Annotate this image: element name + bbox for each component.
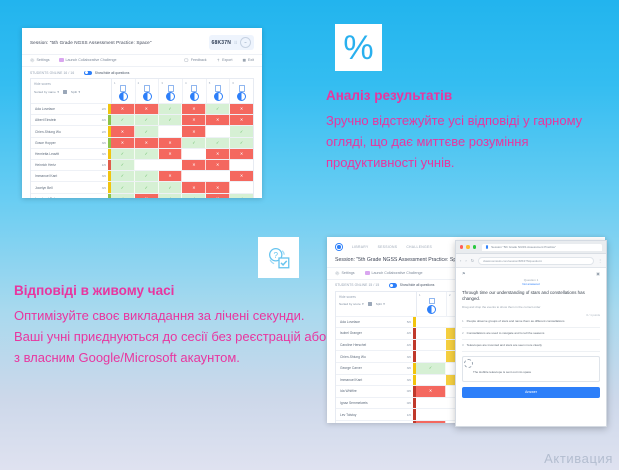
correct-icon: ✓ [168, 197, 171, 198]
question-number: 6 [232, 81, 234, 85]
question-text: Through time our understanding of stars … [462, 290, 600, 302]
answer-cell[interactable]: ✕ [135, 138, 159, 148]
correct-icon: ✓ [429, 366, 432, 370]
hide-scores-label[interactable]: Hide scores [339, 295, 413, 299]
answer-cell[interactable]: ✓ [159, 182, 183, 192]
answer-cell[interactable]: ✓ [230, 126, 253, 136]
challenge-icon [59, 58, 64, 62]
answer-cell[interactable]: ✕ [230, 171, 253, 181]
svg-text:?: ? [273, 251, 278, 260]
drag-option-text: The Hubble telescope is sent out into sp… [473, 370, 531, 374]
answer-cell[interactable]: ✕ [230, 104, 253, 114]
student-score: 3/6 [95, 149, 108, 159]
question-number: 5 [209, 81, 211, 85]
toggle-knob [389, 283, 397, 288]
browser-titlebar: Session "5th Grade NGSS Assessment Pract… [456, 241, 606, 254]
results-overview-screenshot: Session: "5th Grade NGSS Assessment Prac… [22, 28, 262, 198]
toolbar-settings-label: Settings [342, 271, 355, 275]
correct-icon: ✓ [240, 130, 243, 134]
session-toolbar: Settings Launch Collaborative Challenge … [22, 54, 262, 67]
question-doc-icon [239, 85, 245, 92]
answer-cell[interactable]: ✓ [159, 194, 183, 198]
question-content: ⚑ ▣ Question 1 Not answered Through time… [456, 268, 606, 402]
question-number: 4 [185, 81, 187, 85]
option-number: 1 [462, 320, 464, 324]
student-question-browser-window: Session "5th Grade NGSS Assessment Pract… [455, 240, 607, 427]
student-name: Ignaz Semmelweis [336, 398, 400, 409]
answer-cell[interactable]: ✕ [206, 115, 230, 125]
question-progress-icon [237, 92, 246, 101]
show-hide-questions-label: Show/hide all questions [95, 71, 130, 75]
correct-icon: ✓ [145, 174, 148, 178]
correct-icon: ✓ [168, 118, 171, 122]
maximize-icon[interactable] [473, 245, 476, 248]
answer-cell[interactable] [416, 375, 446, 386]
question-doc-icon [191, 85, 197, 92]
incorrect-icon: ✕ [145, 141, 148, 145]
chevron-down-icon: ▾ [78, 90, 80, 94]
answer-cell[interactable]: ✕ [230, 115, 253, 125]
answer-cell[interactable]: ✕ [159, 138, 183, 148]
toolbar-exit-label: Exit [248, 58, 254, 62]
incorrect-icon: ✕ [121, 141, 124, 145]
nav-sessions[interactable]: SESSIONS [378, 245, 398, 249]
student-score: 1/6 [95, 160, 108, 170]
question-number: 1 [419, 293, 421, 297]
table-row[interactable]: Henrietta Leavitt3/6✓✓✕✕✕ [31, 148, 253, 159]
answer-cell[interactable]: ✓ [135, 115, 159, 125]
incorrect-icon: ✕ [121, 107, 124, 111]
answer-cell[interactable] [182, 149, 206, 159]
chevron-down-icon: ▾ [57, 90, 59, 94]
feature-analysis: Аналіз результатів Зручно відстежуйте ус… [326, 88, 606, 173]
browser-tab[interactable]: Session "5th Grade NGSS Assessment Pract… [482, 244, 602, 251]
gear-icon [335, 271, 340, 276]
answer-cell[interactable]: ✕ [135, 194, 159, 198]
answer-cell[interactable]: ✕ [206, 149, 230, 159]
question-column[interactable]: 4 [183, 79, 207, 103]
correct-icon: ✓ [216, 141, 219, 145]
answer-cell[interactable] [416, 409, 446, 420]
answer-cell[interactable]: ✕ [206, 160, 230, 170]
grid-view-icon[interactable] [368, 302, 372, 306]
answer-cell[interactable]: ✓ [135, 126, 159, 136]
incorrect-icon: ✕ [192, 107, 195, 111]
answer-cell[interactable] [416, 328, 446, 339]
results-grid: Hide scores Sorted by name▾ Split▾ 12345… [30, 78, 254, 198]
question-column[interactable]: 2 [136, 79, 160, 103]
student-score: 0/6 [400, 386, 413, 397]
option-text: Constellations are used to navigate and … [467, 332, 545, 336]
answer-cell[interactable] [206, 171, 230, 181]
question-progress-icon [214, 92, 223, 101]
answer-cell[interactable]: ✓ [206, 138, 230, 148]
feature-analysis-heading: Аналіз результатів [326, 88, 606, 105]
sort-chip-label: Sorted by score [339, 302, 361, 306]
student-score: 3/6 [400, 363, 413, 374]
student-name: Ada Lovelace [336, 317, 400, 328]
answer-cell[interactable]: ✓ [135, 171, 159, 181]
student-score: 4/6 [95, 194, 108, 198]
correct-icon: ✓ [192, 141, 195, 145]
student-score: 2/6 [400, 421, 413, 423]
toolbar-export[interactable]: Export [216, 58, 233, 63]
session-code-pill[interactable]: 68K37N ⠿ ⎯ [209, 35, 254, 50]
answer-cell[interactable]: ✓ [111, 160, 135, 170]
incorrect-icon: ✕ [240, 152, 243, 156]
results-grid-body: Ada Lovelace2/6✕✕✓✕✓✕Albert Einstein4/6✓… [31, 103, 253, 198]
correct-icon: ✓ [121, 197, 124, 198]
correct-icon: ✓ [168, 107, 171, 111]
table-row[interactable]: Ada Lovelace2/6✕✕✓✕✓✕ [31, 103, 253, 114]
question-status: Not answered [462, 282, 600, 286]
answer-cell[interactable]: ✓ [159, 104, 183, 114]
correct-icon: ✓ [121, 163, 124, 167]
answer-cell[interactable]: ✕ [135, 104, 159, 114]
answer-cell[interactable]: ✓ [230, 194, 253, 198]
correct-icon: ✓ [168, 186, 171, 190]
question-check-icon-tile: ? [258, 237, 299, 278]
answer-cell[interactable]: ✕ [230, 149, 253, 159]
results-grid-header: Hide scores Sorted by name▾ Split▾ 12345… [31, 79, 253, 103]
show-hide-questions-label: Show/hide all questions [400, 283, 435, 287]
question-option[interactable]: 3Telescopes are invented and stars are s… [462, 344, 600, 352]
question-progress-icon [190, 92, 199, 101]
answer-cell[interactable]: ✓ [111, 115, 135, 125]
answer-cell[interactable]: ✕ [111, 138, 135, 148]
option-number: 2 [462, 332, 464, 336]
correct-icon: ✓ [121, 186, 124, 190]
toolbar-launch-challenge-label: Launch Collaborative Challenge [66, 58, 117, 62]
students-online-count: STUDENTS ONLINE 16 / 16 [30, 71, 74, 75]
answer-cell[interactable] [230, 160, 253, 170]
correct-icon: ✓ [145, 130, 148, 134]
table-row[interactable]: Immanuel Kant3/6✓✓✕✕ [31, 170, 253, 181]
answer-cell[interactable]: ✕ [182, 182, 206, 192]
student-name: Isobel Granger [336, 328, 400, 339]
expand-button[interactable]: ⎯ [240, 37, 251, 48]
incorrect-icon: ✕ [240, 107, 243, 111]
table-row[interactable]: Albert Einstein4/6✓✓✓✕✕✕ [31, 114, 253, 125]
sort-chip[interactable]: Sorted by name▾ [34, 90, 59, 94]
student-name: Lev Tolstoy [336, 409, 400, 420]
answer-cell[interactable]: ✕ [182, 115, 206, 125]
correct-icon: ✓ [240, 197, 243, 198]
feature-analysis-body: Зручно відстежуйте усі відповіді у гарно… [326, 110, 606, 173]
url-input[interactable]: classroomtools.com/session/68K37N/questi… [478, 257, 594, 265]
feedback-icon [184, 58, 189, 63]
student-score: 4/6 [400, 328, 413, 339]
student-score: 4/6 [400, 340, 413, 351]
incorrect-icon: ✕ [168, 174, 171, 178]
answer-cell[interactable]: ✕ [111, 104, 135, 114]
question-progress-icon [119, 92, 128, 101]
session-title: Session: "5th Grade NGSS Assessment Prac… [30, 40, 152, 45]
question-number: 3 [161, 81, 163, 85]
student-name: Albert Einstein [31, 115, 95, 125]
incorrect-icon: ✕ [168, 141, 171, 145]
nav-challenges[interactable]: CHALLENGES [406, 245, 432, 249]
student-score: 3/6 [95, 171, 108, 181]
grid-view-icon[interactable] [63, 90, 67, 94]
student-score: 2/6 [95, 104, 108, 114]
student-name: George Carver [336, 363, 400, 374]
view-chip-label: Split [71, 90, 77, 94]
student-name: Louis Pasteur [336, 421, 400, 423]
student-score: 1/6 [400, 409, 413, 420]
student-name: Leonhard Euler [31, 194, 95, 198]
answer-cell[interactable] [230, 182, 253, 192]
chevron-down-icon: ▾ [383, 302, 385, 306]
toolbar-settings[interactable]: Settings [30, 58, 50, 63]
question-option[interactable]: 2Constellations are used to navigate and… [462, 332, 600, 340]
reload-icon[interactable]: ↻ [471, 259, 474, 263]
student-name: Chien-Shiung Wu [31, 126, 95, 136]
student-name: Jocelyn Bell [31, 182, 95, 192]
correct-icon: ✓ [145, 186, 148, 190]
question-column[interactable]: 6 [230, 79, 253, 103]
answer-cell[interactable] [416, 398, 446, 409]
question-columns: 123456 [112, 79, 253, 103]
answer-cell[interactable]: ✓ [111, 182, 135, 192]
percent-icon: % [343, 31, 373, 65]
incorrect-icon: ✕ [216, 186, 219, 190]
answer-cell[interactable]: ✕ [182, 104, 206, 114]
toolbar-launch-challenge[interactable]: Launch Collaborative Challenge [59, 58, 117, 62]
table-row[interactable]: Leonhard Euler4/6✓✕✓✓✕✓ [31, 193, 253, 198]
view-chip[interactable]: Split▾ [376, 302, 385, 306]
view-chip-label: Split [376, 302, 382, 306]
fullscreen-icon[interactable]: ▣ [596, 272, 600, 276]
answer-cell[interactable]: ✓ [182, 194, 206, 198]
answer-cell[interactable]: ✕ [416, 421, 446, 423]
student-name: Henrietta Leavitt [31, 149, 95, 159]
correct-icon: ✓ [192, 197, 195, 198]
correct-icon: ✓ [121, 174, 124, 178]
table-row[interactable]: Heinrich Hertz1/6✓✕✕ [31, 159, 253, 170]
sort-chip-label: Sorted by name [34, 90, 56, 94]
question-number: 2 [449, 293, 451, 297]
student-score: 5/6 [400, 317, 413, 328]
student-name: Caroline Herschel [336, 340, 400, 351]
answer-cell[interactable] [159, 160, 183, 170]
option-number: 3 [462, 344, 464, 348]
answer-cell[interactable]: ✓ [230, 138, 253, 148]
answer-cell[interactable]: ✓ [159, 115, 183, 125]
toolbar-feedback[interactable]: Feedback [184, 58, 206, 63]
table-row[interactable]: Grace Hopper3/6✕✕✕✓✓✓ [31, 137, 253, 148]
answer-cell[interactable]: ✓ [416, 363, 446, 374]
toolbar-feedback-label: Feedback [191, 58, 207, 62]
activation-watermark: Активация [544, 451, 613, 466]
student-name: Grace Hopper [31, 138, 95, 148]
toolbar-exit[interactable]: Exit [242, 58, 255, 63]
correct-icon: ✓ [121, 152, 124, 156]
close-icon[interactable] [460, 245, 463, 248]
option-text: People observe groups of stars and name … [467, 320, 565, 324]
answer-cell[interactable] [206, 126, 230, 136]
question-column[interactable]: 1 [112, 79, 136, 103]
student-score: 3/6 [95, 138, 108, 148]
question-doc-icon [429, 298, 435, 305]
nav-library[interactable]: LIBRARY [352, 245, 369, 249]
answer-cell[interactable] [159, 126, 183, 136]
incorrect-icon: ✕ [192, 186, 195, 190]
show-hide-questions-toggle[interactable]: Show/hide all questions [389, 283, 434, 288]
answer-cell[interactable]: ✕ [416, 386, 446, 397]
session-header: Session: "5th Grade NGSS Assessment Prac… [22, 28, 262, 54]
student-name: Immanuel Kant [31, 171, 95, 181]
toolbar-export-label: Export [222, 58, 232, 62]
favicon-icon [485, 245, 489, 249]
table-row[interactable]: Chien-Shiung Wu2/6✕✓✕✓ [31, 125, 253, 136]
correct-icon: ✓ [121, 118, 124, 122]
question-hint: Drag and drop the events to show them in… [462, 305, 600, 309]
hide-scores-label[interactable]: Hide scores [34, 82, 108, 86]
toolbar-launch-challenge[interactable]: Launch Collaborative Challenge [365, 271, 423, 275]
incorrect-icon: ✕ [240, 174, 243, 178]
browser-tab-title: Session "5th Grade NGSS Assessment Pract… [491, 245, 556, 249]
question-points: 0 / 1 points [462, 313, 600, 317]
question-number: 2 [138, 81, 140, 85]
student-name: Ada Lovelace [31, 104, 95, 114]
feature-live-body: Оптимізуйте своє викладання за лічені се… [14, 305, 330, 368]
show-hide-questions-toggle[interactable]: Show/hide all questions [84, 71, 129, 76]
answer-cell[interactable]: ✓ [135, 182, 159, 192]
sort-chip[interactable]: Sorted by score▾ [339, 302, 364, 306]
student-name: Immanuel Kant [336, 375, 400, 386]
incorrect-icon: ✕ [192, 163, 195, 167]
student-name: Heinrich Hertz [31, 160, 95, 170]
question-doc-icon [144, 85, 150, 92]
view-chip[interactable]: Split▾ [71, 90, 80, 94]
exit-icon [242, 58, 247, 63]
question-progress-icon [166, 92, 175, 101]
incorrect-icon: ✕ [168, 152, 171, 156]
toolbar-launch-challenge-label: Launch Collaborative Challenge [372, 271, 423, 275]
answer-cell[interactable]: ✓ [111, 194, 135, 198]
question-check-icon: ? [266, 245, 292, 271]
browser-addressbar: ‹ › ↻ classroomtools.com/session/68K37N/… [456, 254, 606, 268]
student-name: Chien-Shiung Wu [336, 351, 400, 362]
toolbar-settings[interactable]: Settings [335, 271, 355, 276]
question-progress-icon [143, 92, 152, 101]
export-icon [216, 58, 221, 63]
question-options: 1People observe groups of stars and name… [462, 320, 600, 352]
incorrect-icon: ✕ [192, 130, 195, 134]
question-number: 1 [114, 81, 116, 85]
feature-live: Відповіді в живому часі Оптимізуйте своє… [14, 283, 330, 368]
answer-cell[interactable]: ✕ [159, 171, 183, 181]
question-column[interactable]: 3 [159, 79, 183, 103]
answer-cell[interactable]: ✓ [206, 104, 230, 114]
incorrect-icon: ✕ [121, 130, 124, 134]
student-score: 0/6 [400, 398, 413, 409]
answer-cell[interactable]: ✕ [159, 149, 183, 159]
correct-icon: ✓ [145, 152, 148, 156]
forward-icon[interactable]: › [465, 259, 466, 263]
incorrect-icon: ✕ [145, 107, 148, 111]
back-icon[interactable]: ‹ [460, 259, 461, 263]
answer-button[interactable]: Answer [462, 387, 600, 398]
question-progress-icon [427, 305, 436, 314]
student-score: 3/6 [400, 351, 413, 362]
student-score: 4/6 [95, 115, 108, 125]
answer-cell[interactable]: ✓ [111, 171, 135, 181]
app-logo-icon [335, 243, 343, 251]
toggle-knob [84, 71, 92, 76]
answer-cell[interactable]: ✕ [182, 160, 206, 170]
session-code: 68K37N [212, 40, 232, 46]
student-score: 3/6 [400, 375, 413, 386]
incorrect-icon: ✕ [216, 163, 219, 167]
chevron-down-icon: ▾ [362, 302, 364, 306]
student-score: 2/6 [95, 126, 108, 136]
question-doc-icon [120, 85, 126, 92]
option-text: Telescopes are invented and stars are se… [467, 344, 542, 348]
question-doc-icon [168, 85, 174, 92]
incorrect-icon: ✕ [429, 389, 432, 393]
challenge-icon [365, 271, 370, 275]
minimize-icon[interactable] [466, 245, 469, 248]
incorrect-icon: ✕ [240, 118, 243, 122]
gear-icon [30, 58, 35, 63]
question-column[interactable]: 5 [207, 79, 231, 103]
correct-icon: ✓ [145, 118, 148, 122]
question-column[interactable]: 1 [417, 292, 447, 316]
table-row[interactable]: Jocelyn Bell3/6✓✓✓✕✕ [31, 181, 253, 192]
percent-icon-tile: % [335, 24, 382, 71]
student-score: 3/6 [95, 182, 108, 192]
grip-icon: ⠿ [234, 40, 237, 45]
correct-icon: ✓ [216, 107, 219, 111]
answer-cell[interactable]: ✕ [182, 126, 206, 136]
answer-cell[interactable]: ✓ [135, 149, 159, 159]
correct-icon: ✓ [240, 141, 243, 145]
drag-handle-icon[interactable] [464, 359, 473, 368]
question-option[interactable]: 1People observe groups of stars and name… [462, 320, 600, 328]
drag-drop-zone[interactable]: The Hubble telescope is sent out into sp… [462, 356, 600, 382]
menu-icon[interactable]: ⋮ [598, 259, 602, 263]
toolbar-settings-label: Settings [37, 58, 50, 62]
answer-cell[interactable] [416, 351, 446, 362]
answer-cell[interactable] [416, 317, 446, 328]
students-online-count: STUDENTS ONLINE 15 / 15 [335, 283, 379, 287]
answer-cell[interactable]: ✓ [182, 138, 206, 148]
incorrect-icon: ✕ [145, 197, 148, 198]
incorrect-icon: ✕ [216, 152, 219, 156]
incorrect-icon: ✕ [192, 118, 195, 122]
student-name: Ida Whitfire [336, 386, 400, 397]
answer-cell[interactable] [416, 340, 446, 351]
answer-cell[interactable]: ✕ [206, 182, 230, 192]
answer-cell[interactable]: ✕ [206, 194, 230, 198]
answer-cell[interactable] [135, 160, 159, 170]
incorrect-icon: ✕ [216, 197, 219, 198]
session-substatus: STUDENTS ONLINE 16 / 16 Show/hide all qu… [22, 67, 262, 79]
answer-cell[interactable]: ✕ [111, 126, 135, 136]
bookmark-icon[interactable]: ⚑ [462, 272, 466, 276]
feature-live-heading: Відповіді в живому часі [14, 283, 330, 300]
answer-cell[interactable]: ✓ [111, 149, 135, 159]
question-doc-icon [215, 85, 221, 92]
answer-cell[interactable] [182, 171, 206, 181]
incorrect-icon: ✕ [216, 118, 219, 122]
